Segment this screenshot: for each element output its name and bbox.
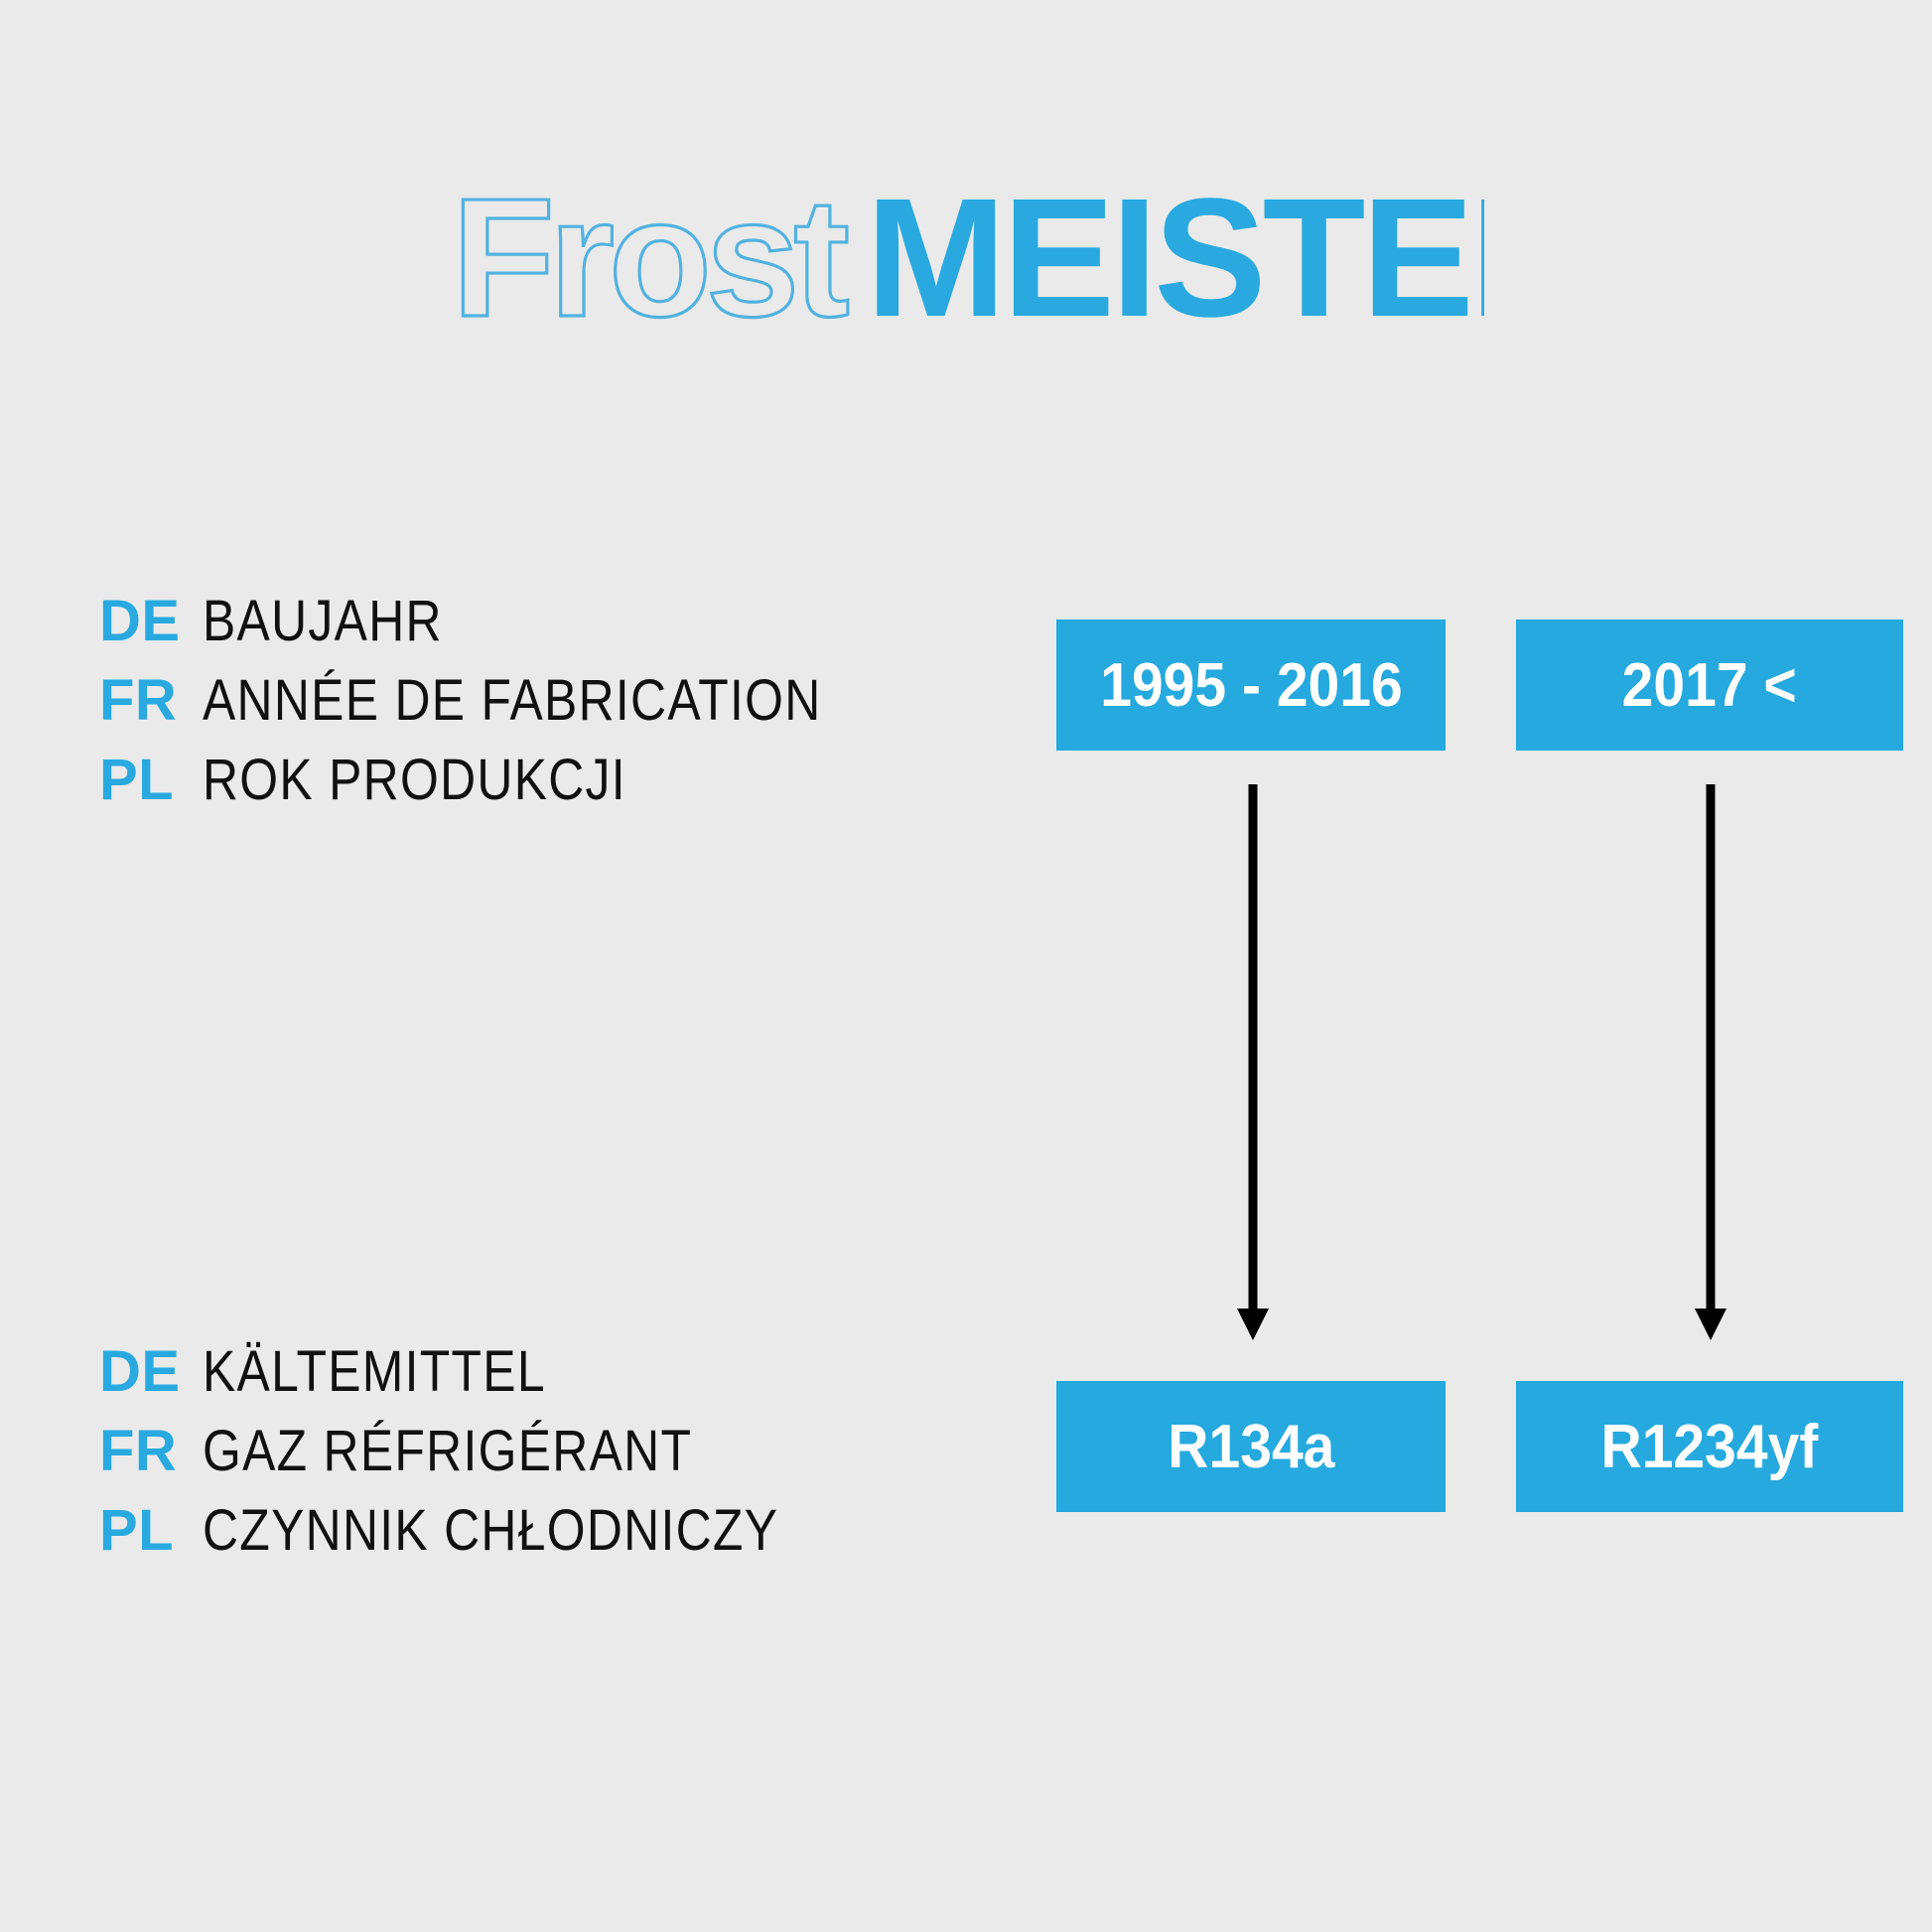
label-text-fr: GAZ RÉFRIGÉRANT <box>203 1418 692 1484</box>
label-text-de: BAUJAHR <box>203 588 443 654</box>
down-arrow-icon <box>1223 784 1283 1345</box>
label-row-de: DE BAUJAHR <box>99 588 922 667</box>
value-box-refrigerant-1: R134a <box>1056 1381 1446 1512</box>
infographic-canvas: Frost MEISTER DE BAUJAHR FR ANNÉE DE FAB… <box>0 0 1932 1932</box>
value-box-year-range-1: 1995 - 2016 <box>1056 620 1446 751</box>
label-row-pl: PL CZYNNIK CHŁODNICZY <box>99 1497 873 1577</box>
value-box-year-range-2: 2017 < <box>1516 620 1903 751</box>
down-arrow-icon <box>1681 784 1740 1345</box>
lang-code-pl: PL <box>99 1497 203 1564</box>
value-box-refrigerant-1-label: R134a <box>1168 1412 1334 1482</box>
label-block-year-of-manufacture: DE BAUJAHR FR ANNÉE DE FABRICATION PL RO… <box>99 588 922 826</box>
lang-code-pl: PL <box>99 747 203 813</box>
logo-word-meister: MEISTER <box>866 177 1484 352</box>
value-box-year-range-2-label: 2017 < <box>1622 650 1797 721</box>
label-text-fr: ANNÉE DE FABRICATION <box>203 667 822 734</box>
value-box-refrigerant-2-label: R1234yf <box>1601 1412 1819 1482</box>
brand-logo: Frost MEISTER <box>452 177 1484 336</box>
label-row-fr: FR GAZ RÉFRIGÉRANT <box>99 1418 873 1497</box>
label-block-refrigerant: DE KÄLTEMITTEL FR GAZ RÉFRIGÉRANT PL CZY… <box>99 1338 873 1577</box>
logo-word-frost: Frost <box>452 177 848 352</box>
label-text-pl: ROK PRODUKCJI <box>203 747 626 813</box>
lang-code-fr: FR <box>99 667 203 734</box>
label-text-de: KÄLTEMITTEL <box>203 1338 546 1405</box>
lang-code-de: DE <box>99 588 203 654</box>
label-text-pl: CZYNNIK CHŁODNICZY <box>203 1497 778 1564</box>
label-row-pl: PL ROK PRODUKCJI <box>99 747 922 826</box>
value-box-year-range-1-label: 1995 - 2016 <box>1100 650 1402 721</box>
label-row-fr: FR ANNÉE DE FABRICATION <box>99 667 922 747</box>
lang-code-fr: FR <box>99 1418 203 1484</box>
value-box-refrigerant-2: R1234yf <box>1516 1381 1903 1512</box>
label-row-de: DE KÄLTEMITTEL <box>99 1338 873 1418</box>
lang-code-de: DE <box>99 1338 203 1405</box>
